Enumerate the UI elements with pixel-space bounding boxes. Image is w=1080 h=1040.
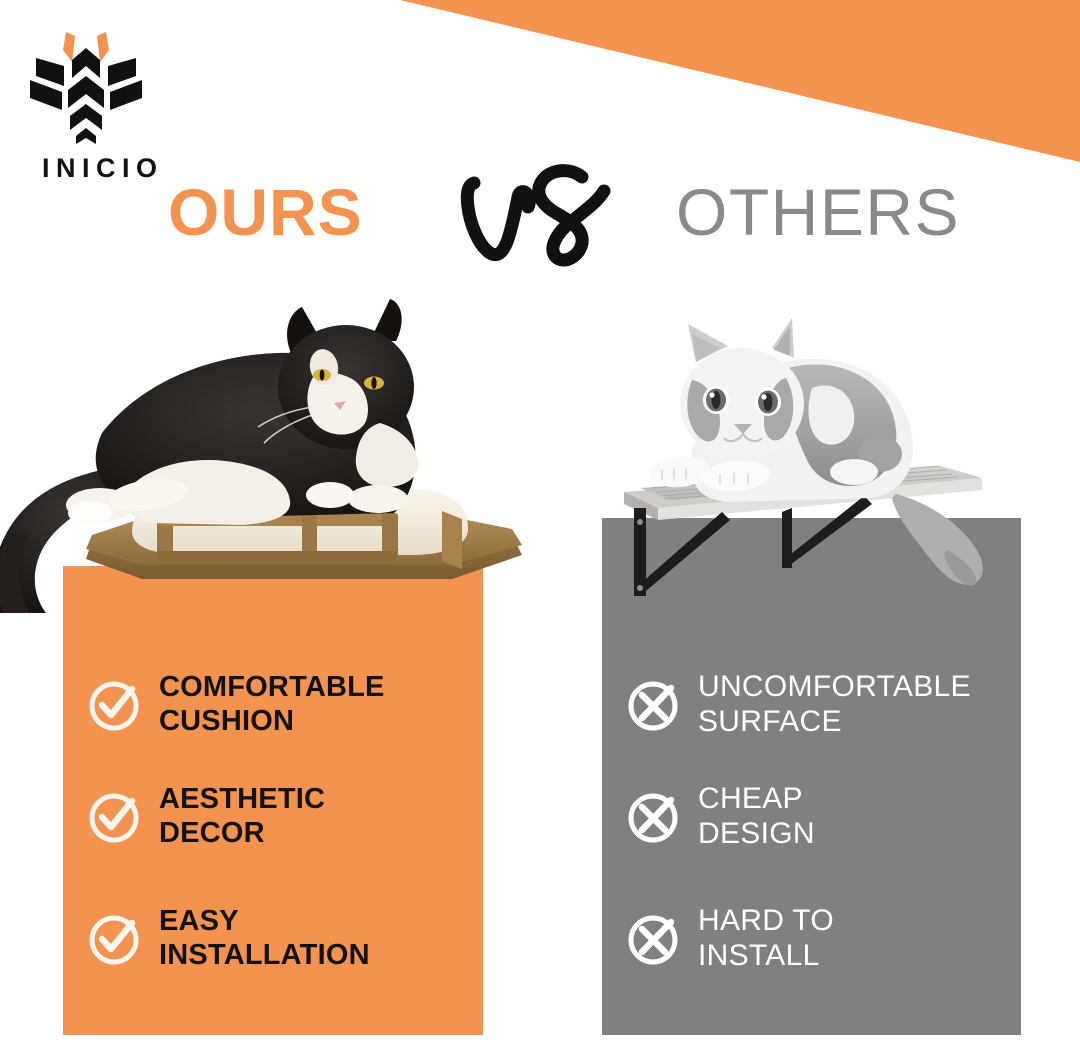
check-circle-icon <box>85 910 143 968</box>
feature-ours-2[interactable]: AESTHETIC DECOR <box>63 767 483 867</box>
others-product-photo <box>596 296 1016 596</box>
feature-others-3[interactable]: HARD TO INSTALL <box>602 879 1021 999</box>
hex-bee-logo-icon <box>20 20 160 150</box>
x-circle-icon <box>624 676 682 734</box>
x-circle-icon <box>624 910 682 968</box>
vs-script-icon <box>452 159 627 289</box>
header-orange-wedge <box>0 0 1080 175</box>
feature-others-2[interactable]: CHEAP DESIGN <box>602 767 1021 867</box>
feature-label: AESTHETIC DECOR <box>159 783 325 850</box>
feature-label: HARD TO INSTALL <box>698 904 834 974</box>
cat-on-bracket-shelf-illustration <box>596 296 1036 606</box>
feature-ours-1[interactable]: COMFORTABLE CUSHION <box>63 651 483 759</box>
cat-on-wooden-shelf-illustration <box>0 283 582 613</box>
brand-logo: INICIO <box>20 20 160 170</box>
feature-label: UNCOMFORTABLE SURFACE <box>698 670 971 740</box>
comparison-infographic: INICIO OURS OTHERS <box>0 0 1080 1040</box>
feature-label: CHEAP DESIGN <box>698 782 815 852</box>
feature-label: COMFORTABLE CUSHION <box>159 671 385 738</box>
x-circle-icon <box>624 788 682 846</box>
headline: OURS OTHERS <box>0 175 1080 280</box>
check-circle-icon <box>85 676 143 734</box>
feature-label: EASY INSTALLATION <box>159 905 370 972</box>
check-circle-icon <box>85 788 143 846</box>
headline-others: OTHERS <box>676 177 960 247</box>
headline-vs-script <box>452 159 612 279</box>
ours-product-photo <box>0 283 552 603</box>
feature-ours-3[interactable]: EASY INSTALLATION <box>63 879 483 999</box>
headline-ours: OURS <box>168 177 363 247</box>
feature-others-1[interactable]: UNCOMFORTABLE SURFACE <box>602 651 1021 759</box>
